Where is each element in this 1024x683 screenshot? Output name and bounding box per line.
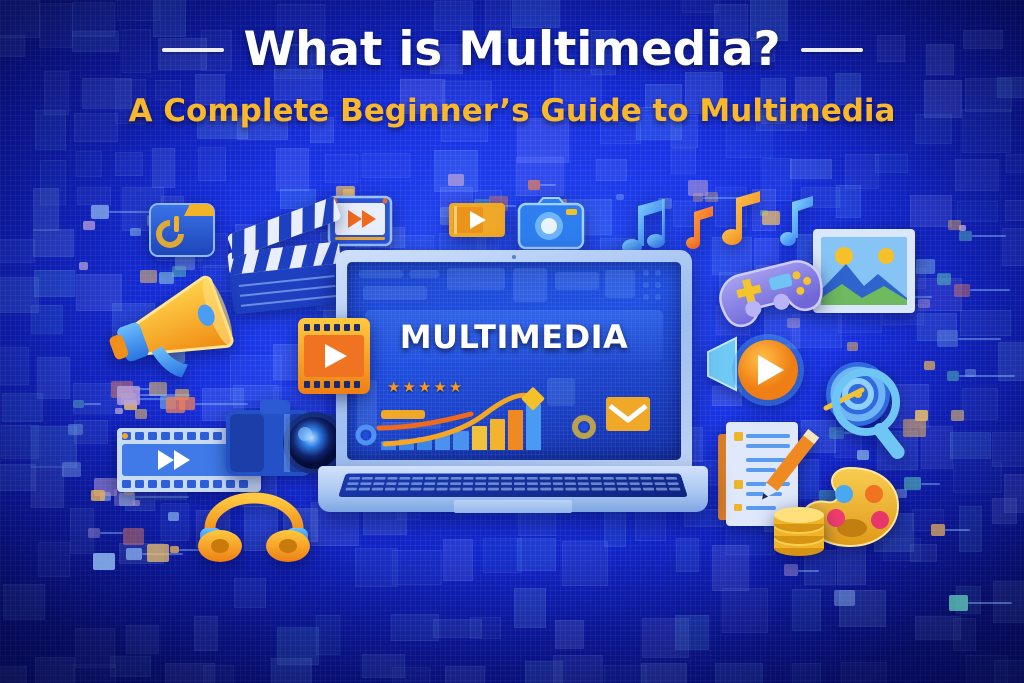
circuit-node (688, 180, 707, 196)
laptop-trackpad[interactable] (454, 500, 572, 513)
circuit-node (91, 205, 109, 219)
multimedia-banner: What is Multimedia? A Complete Beginner’… (0, 0, 1024, 683)
music-note-icon (780, 196, 816, 248)
circuit-node (924, 361, 935, 370)
circuit-node (931, 524, 946, 536)
circuit-node (91, 490, 105, 501)
laptop-screen: MULTIMEDIA ★★★★★ (347, 262, 681, 460)
trend-line-icon (377, 412, 473, 434)
coins-icon (772, 508, 826, 554)
play-button-icon[interactable] (706, 330, 810, 416)
circuit-node (954, 284, 970, 297)
circuit-node (93, 553, 115, 570)
laptop-lid: MULTIMEDIA ★★★★★ (336, 250, 692, 472)
circuit-wire (972, 235, 1006, 237)
circuit-node (916, 259, 935, 274)
circuit-node (847, 342, 858, 351)
title-dash-right (801, 48, 863, 52)
circuit-wire (970, 289, 1010, 291)
screen-title: MULTIMEDIA (347, 318, 681, 356)
circuit-wire (100, 532, 123, 534)
circuit-node (965, 369, 976, 377)
circuit-wire (135, 496, 189, 498)
circuit-node (948, 220, 961, 230)
magnifier-icon (818, 358, 922, 466)
music-note-icon (622, 196, 668, 258)
circuit-node (904, 477, 920, 490)
circuit-node (79, 262, 88, 269)
circuit-node (73, 400, 83, 408)
circuit-wire (968, 602, 1012, 604)
gamepad-icon (716, 252, 826, 334)
circuit-node (115, 408, 123, 414)
title-row: What is Multimedia? (0, 22, 1024, 77)
image-frame-icon (812, 228, 916, 314)
circuit-node (130, 228, 141, 237)
circuit-wire (798, 570, 819, 572)
circuit-node (528, 180, 541, 190)
circuit-node (168, 512, 179, 521)
circuit-node (83, 221, 95, 230)
circuit-node (448, 174, 463, 186)
gear-icon (569, 412, 599, 442)
circuit-node (170, 546, 179, 553)
circuit-node (88, 528, 100, 538)
video-frame-icon (448, 198, 506, 242)
circuit-node (949, 595, 968, 610)
circuit-node (140, 270, 157, 283)
circuit-wire (945, 529, 970, 531)
circuit-node (123, 528, 144, 545)
circuit-node (937, 330, 958, 347)
film-play-icon[interactable] (296, 316, 372, 396)
circuit-node (834, 590, 855, 607)
circuit-node (62, 462, 81, 477)
circuit-node (762, 211, 780, 226)
music-note-icon (722, 190, 764, 248)
megaphone-icon (108, 288, 238, 400)
circuit-node (784, 564, 799, 576)
page-title: What is Multimedia? (244, 22, 781, 77)
circuit-wire (540, 184, 556, 186)
photo-camera-icon (518, 196, 584, 250)
circuit-node (959, 231, 972, 241)
mail-image-icon (605, 396, 651, 432)
laptop-keyboard[interactable] (338, 474, 688, 497)
music-note-icon (686, 206, 716, 250)
page-subtitle: A Complete Beginner’s Guide to Multimedi… (0, 93, 1024, 129)
webcam-dot (512, 255, 516, 259)
gear-icon (353, 422, 379, 448)
title-dash-left (162, 48, 224, 52)
banner-header: What is Multimedia? A Complete Beginner’… (0, 22, 1024, 129)
circuit-node (937, 273, 952, 285)
circuit-node (918, 299, 930, 309)
circuit-node (135, 409, 148, 419)
headphones-icon (196, 488, 312, 562)
laptop: MULTIMEDIA ★★★★★ (318, 250, 708, 540)
circuit-node (126, 548, 142, 561)
circuit-node (147, 544, 169, 562)
circuit-node (951, 410, 964, 421)
circuit-node (947, 371, 959, 380)
circuit-wire (921, 483, 940, 485)
folder-icon (148, 198, 216, 260)
circuit-node (68, 424, 82, 435)
circuit-wire (958, 338, 1001, 340)
circuit-wire (84, 403, 101, 405)
